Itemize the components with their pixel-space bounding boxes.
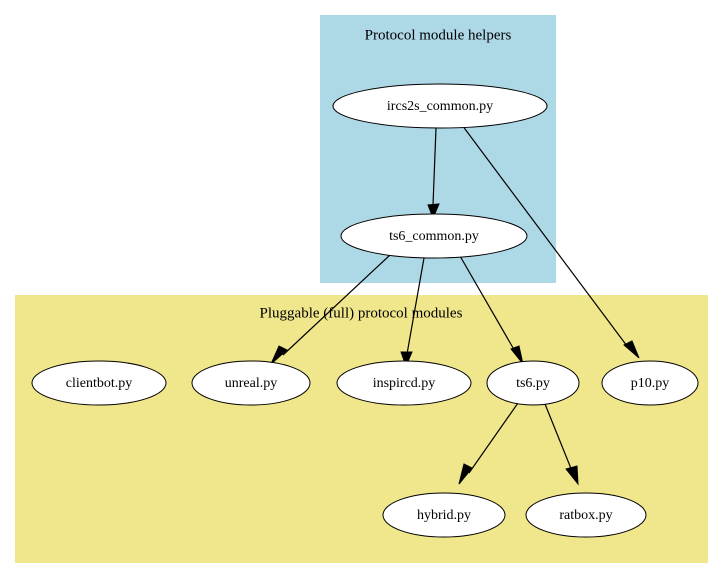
- node-p10[interactable]: p10.py: [602, 361, 698, 405]
- node-label: ratbox.py: [559, 508, 612, 523]
- node-ts6[interactable]: ts6.py: [487, 361, 579, 405]
- node-label: ts6.py: [516, 376, 550, 391]
- node-ts6-common[interactable]: ts6_common.py: [341, 214, 527, 258]
- node-hybrid[interactable]: hybrid.py: [383, 493, 505, 537]
- node-label: inspircd.py: [373, 376, 436, 391]
- node-ratbox[interactable]: ratbox.py: [526, 493, 646, 537]
- node-label: hybrid.py: [417, 508, 471, 523]
- diagram-canvas: Protocol module helpers Pluggable (full)…: [0, 0, 723, 580]
- node-label: p10.py: [631, 376, 670, 391]
- cluster-pluggable-label: Pluggable (full) protocol modules: [260, 305, 463, 321]
- node-label: unreal.py: [225, 376, 277, 391]
- node-label: ircs2s_common.py: [387, 99, 493, 114]
- graph-svg: Protocol module helpers Pluggable (full)…: [0, 0, 723, 580]
- cluster-helpers-label: Protocol module helpers: [365, 27, 512, 43]
- node-clientbot[interactable]: clientbot.py: [32, 361, 166, 405]
- node-unreal[interactable]: unreal.py: [192, 361, 310, 405]
- node-inspircd[interactable]: inspircd.py: [337, 361, 471, 405]
- node-ircs2s-common[interactable]: ircs2s_common.py: [333, 84, 547, 128]
- node-label: ts6_common.py: [389, 229, 479, 244]
- node-label: clientbot.py: [66, 376, 133, 391]
